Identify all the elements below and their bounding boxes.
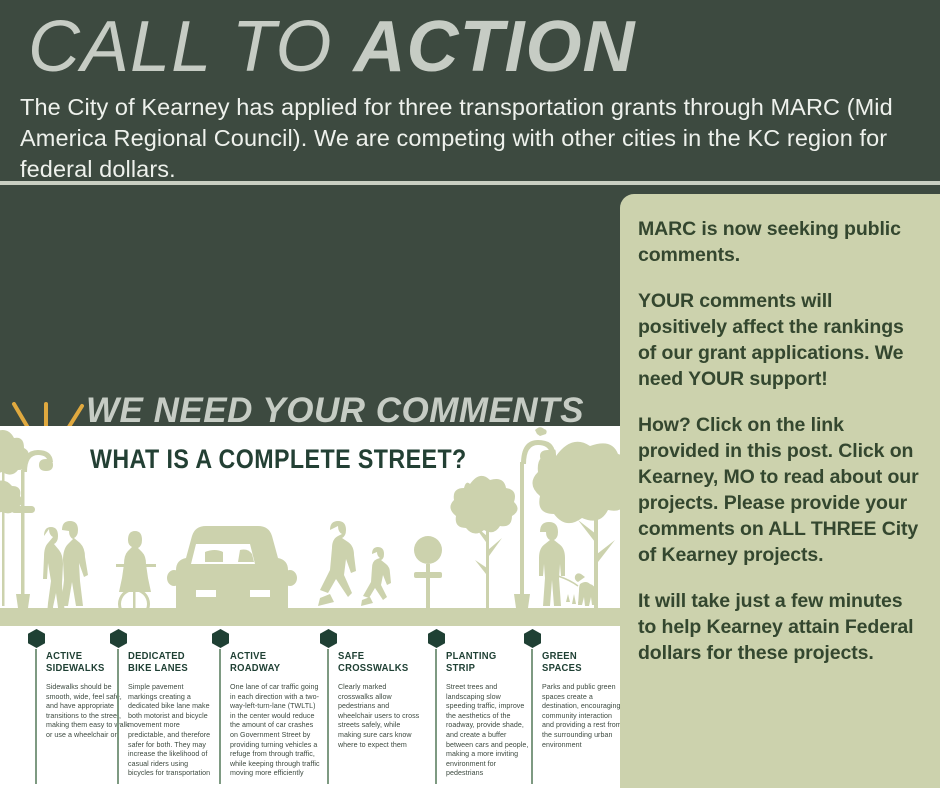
marker-stem [327,649,329,784]
panel-paragraph: How? Click on the link provided in this … [638,412,922,568]
hexagon-marker-icon [212,629,229,648]
feature-card-body: Parks and public green spaces create a d… [542,683,620,750]
infographic-title: WHAT IS A COMPLETE STREET? [90,444,467,474]
feature-card-safe-crosswalks: SAFE CROSSWALKS Clearly marked crosswalk… [320,629,423,788]
marc-info-panel: MARC is now seeking public comments. YOU… [620,194,940,788]
marker-stem [219,649,221,784]
hexagon-marker-icon [28,629,45,648]
feature-card-body: Clearly marked crosswalks allow pedestri… [338,683,422,750]
marker-stem [435,649,437,784]
hexagon-marker-icon [110,629,127,648]
comments-section: WE NEED YOUR COMMENTS 19th Street Comple… [0,186,620,426]
page-title: CALL TO ACTION [28,8,635,86]
street-ground-bar [0,608,620,626]
feature-card-title: SAFE CROSSWALKS [338,651,414,674]
feature-card-active-roadway: ACTIVE ROADWAY One lane of car traffic g… [212,629,315,788]
feature-card-body: Street trees and landscaping slow speedi… [446,683,530,779]
complete-street-infographic: WHAT IS A COMPLETE STREET? ACTIVE SIDEWA… [0,426,620,788]
feature-card-green-spaces: GREEN SPACES Parks and public green spac… [524,629,620,788]
panel-paragraph: MARC is now seeking public comments. [638,216,922,268]
marker-stem [117,649,119,784]
page-title-bold: ACTION [354,7,636,87]
hexagon-marker-icon [320,629,337,648]
feature-card-body: One lane of car traffic going in each di… [230,683,320,779]
header-subtitle: The City of Kearney has applied for thre… [20,92,920,185]
panel-paragraph: It will take just a few minutes to help … [638,588,922,666]
feature-card-title: GREEN SPACES [542,651,618,674]
feature-card-title: ACTIVE ROADWAY [230,651,311,674]
page-title-light: CALL TO [28,7,354,87]
feature-card-dedicated-bike-lanes: DEDICATED BIKE LANES Simple pavement mar… [110,629,213,788]
feature-cards: ACTIVE SIDEWALKS Sidewalks should be smo… [0,629,620,788]
hexagon-marker-icon [524,629,541,648]
header: CALL TO ACTION The City of Kearney has a… [0,0,940,182]
feature-card-title: DEDICATED BIKE LANES [128,651,204,674]
header-divider [0,181,940,185]
marker-stem [531,649,533,784]
feature-card-body: Simple pavement markings creating a dedi… [128,683,212,779]
poster-root: CALL TO ACTION The City of Kearney has a… [0,0,940,788]
feature-card-title: PLANTING STRIP [446,651,522,674]
feature-card-planting-strip: PLANTING STRIP Street trees and landscap… [428,629,531,788]
section-title: WE NEED YOUR COMMENTS [86,391,584,431]
panel-paragraph: YOUR comments will positively affect the… [638,288,922,392]
hexagon-marker-icon [428,629,445,648]
marker-stem [35,649,37,784]
